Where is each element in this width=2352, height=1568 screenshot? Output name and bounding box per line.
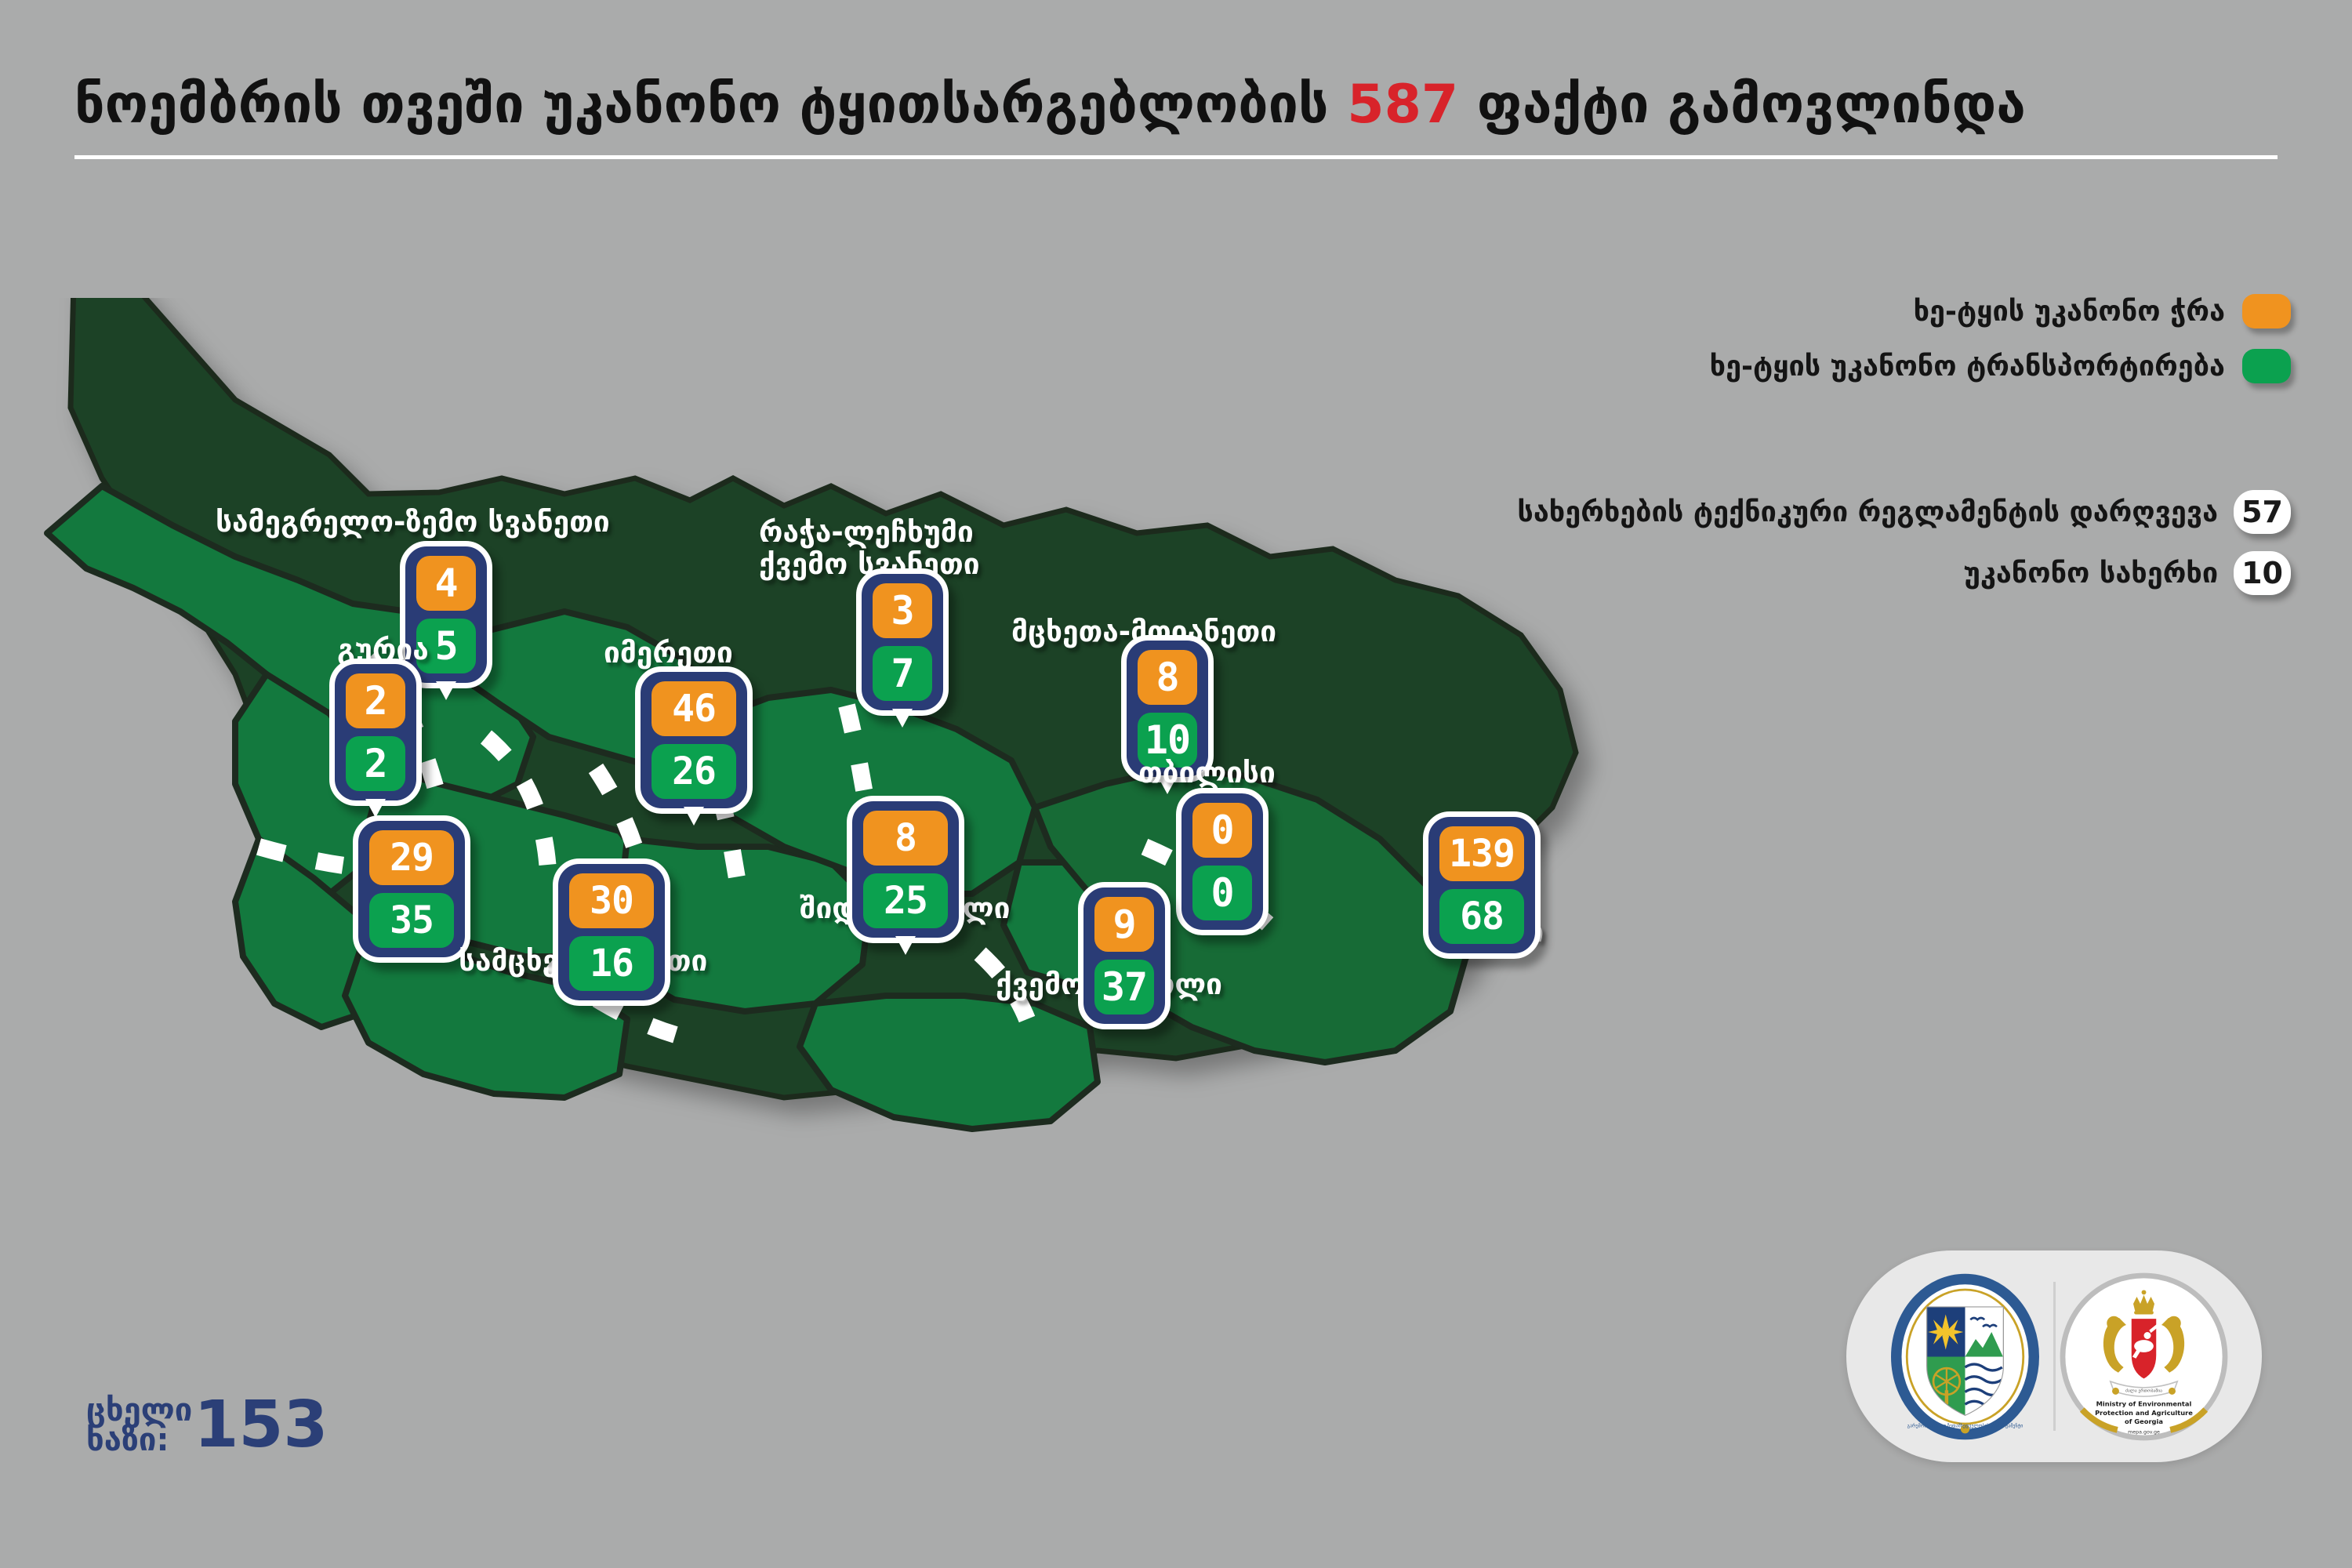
legend-label: ხე-ტყის უკანონო ტრანსპორტირება [1710,350,2225,383]
region-marker-kvemo[interactable]: 937 [1078,882,1171,1029]
legend-item-illegal-logging: ხე-ტყის უკანონო ჭრა [1710,294,2291,328]
title-text-after: ფაქტი გამოვლინდა [1477,74,2026,136]
marker-transport-count: 16 [569,936,654,991]
ministry-line2: Protection and Agriculture [2095,1408,2193,1416]
marker-pointer [892,709,913,728]
marker-pointer [895,936,916,955]
title-text-before: ნოემბრის თვეში უკანონო ტყითსარგებლობის [74,74,1329,136]
stat-value-badge: 10 [2234,551,2291,595]
ministry-of-environmental-protection-emblem: ძალა ერთობაშია Ministry of Environmental… [2056,1269,2232,1445]
stat-value-badge: 57 [2234,490,2291,534]
hotline-line2: ხაზი: [86,1425,192,1455]
marker-transport-count: 0 [1192,866,1252,920]
svg-text:ძალა ერთობაშია: ძალა ერთობაშია [2125,1388,2161,1393]
marker-transport-count: 7 [873,646,932,701]
marker-logging-count: 8 [863,811,948,866]
marker-transport-count: 25 [863,873,948,928]
ministry-website: mepa.gov.ge [2128,1429,2160,1435]
page-title: ნოემბრის თვეში უკანონო ტყითსარგებლობის 5… [74,78,2278,132]
legend-swatch-orange [2242,294,2291,328]
legend-swatch-green [2242,349,2291,383]
environmental-supervision-department-emblem: გარემოსდაცვითი ზედამხედველობის დეპარტამე… [1877,1269,2053,1445]
legend-item-illegal-transport: ხე-ტყის უკანონო ტრანსპორტირება [1710,349,2291,383]
region-label-line: თბილისი [1138,757,1276,789]
title-divider [74,155,2278,159]
marker-transport-count: 68 [1439,889,1524,944]
marker-pointer [684,807,704,826]
marker-logging-count: 0 [1192,803,1252,858]
region-marker-samtskhe[interactable]: 3016 [553,858,670,1006]
hotline-words: ცხელი ხაზი: [86,1396,192,1455]
hotline-number: 153 [194,1398,328,1454]
marker-logging-count: 9 [1094,897,1154,952]
region-marker-adjara[interactable]: 2935 [353,815,470,963]
region-marker-racha[interactable]: 37 [856,568,949,716]
marker-transport-count: 2 [346,736,405,791]
region-label-line: რაჭა-ლეჩხუმი [759,516,980,548]
marker-logging-count: 8 [1138,650,1197,705]
header: ნოემბრის თვეში უკანონო ტყითსარგებლობის 5… [74,78,2278,159]
georgia-region-map: სამეგრელო-ზემო სვანეთი45რაჭა-ლეჩხუმიქვემ… [0,298,1686,1396]
region-label-imereti: იმერეთი [604,637,733,669]
hotline-logo: ცხელი ხაზი: 153 [86,1396,328,1455]
region-marker-imereti[interactable]: 4626 [635,666,753,814]
region-label-line: სამეგრელო-ზემო სვანეთი [216,506,610,538]
marker-logging-count: 2 [346,673,405,728]
marker-transport-count: 35 [369,893,454,948]
marker-transport-count: 26 [652,744,736,799]
region-marker-shida[interactable]: 825 [847,796,964,943]
ministry-line3: of Georgia [2125,1417,2163,1425]
legend-label: ხე-ტყის უკანონო ჭრა [1914,296,2225,328]
marker-logging-count: 46 [652,681,736,736]
stat-label: უკანონო სახერხი [1964,557,2219,590]
marker-transport-count: 37 [1094,960,1154,1014]
marker-logging-count: 30 [569,873,654,928]
region-label-line: იმერეთი [604,637,733,669]
emblem-ring-text: გარემოსდაცვითი ზედამხედველობის დეპარტამე… [1907,1423,2023,1428]
region-label-tbilisi: თბილისი [1138,757,1276,789]
ministry-line1: Ministry of Environmental [2096,1399,2191,1407]
marker-pointer [436,681,456,700]
marker-logging-count: 139 [1439,826,1524,881]
marker-logging-count: 29 [369,830,454,885]
region-label-samegrelo: სამეგრელო-ზემო სვანეთი [216,506,610,538]
region-marker-tbilisi[interactable]: 00 [1176,788,1269,935]
title-highlight-count: 587 [1347,74,1458,136]
hotline-line1: ცხელი [86,1396,192,1425]
legend: ხე-ტყის უკანონო ჭრა ხე-ტყის უკანონო ტრან… [1710,294,2291,404]
marker-logging-count: 3 [873,583,932,638]
region-marker-kakheti[interactable]: 13968 [1423,811,1541,959]
emblem-bar: გარემოსდაცვითი ზედამხედველობის დეპარტამე… [1846,1250,2262,1462]
region-kvemo-kartli [800,996,1098,1129]
region-marker-guria[interactable]: 22 [329,659,422,806]
marker-logging-count: 4 [416,556,476,611]
